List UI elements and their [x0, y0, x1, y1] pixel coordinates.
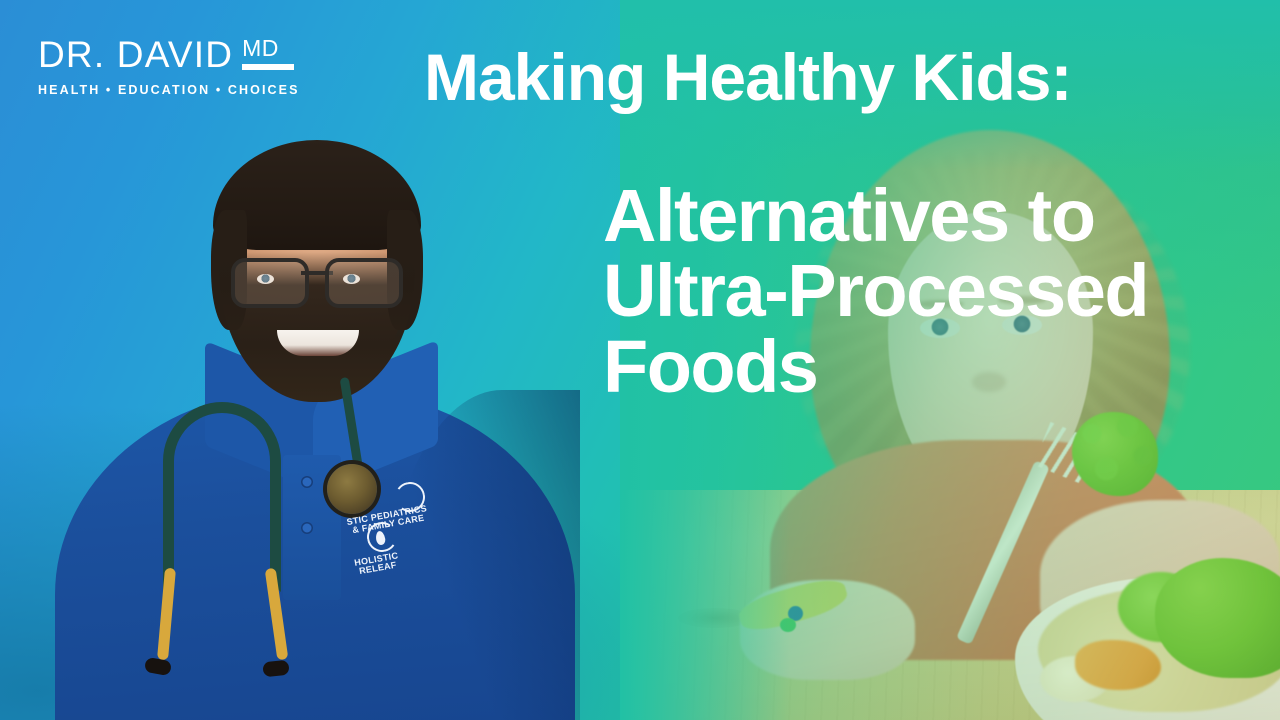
photo-doctor: STIC PEDIATRICS & FAMILY CARE HOLISTIC R… — [55, 110, 575, 720]
title-line-2: Alternatives to Ultra-Processed Foods — [603, 178, 1203, 404]
brand-logo-row: DR. DAVID MD — [38, 36, 300, 73]
eyeglass-lens-left — [231, 258, 309, 308]
brand-credential: MD — [242, 37, 294, 60]
video-thumbnail: STIC PEDIATRICS & FAMILY CARE HOLISTIC R… — [0, 0, 1280, 720]
brand-tagline: HEALTH • EDUCATION • CHOICES — [38, 83, 300, 97]
stethoscope-chestpiece — [327, 464, 377, 514]
doctor-smile — [277, 330, 359, 356]
brand-credential-wrap: MD — [242, 37, 294, 70]
brand-logo: DR. DAVID MD HEALTH • EDUCATION • CHOICE… — [38, 36, 300, 97]
eyeglass-lens-right — [325, 258, 403, 308]
polo-button-bottom — [301, 522, 313, 534]
brand-name: DR. DAVID — [38, 36, 233, 73]
polo-button-top — [301, 476, 313, 488]
brand-credential-underline — [242, 64, 294, 70]
title-line-1: Making Healthy Kids: — [424, 44, 1071, 110]
stethoscope-tube — [163, 402, 281, 592]
eyeglasses-icon — [231, 258, 403, 300]
